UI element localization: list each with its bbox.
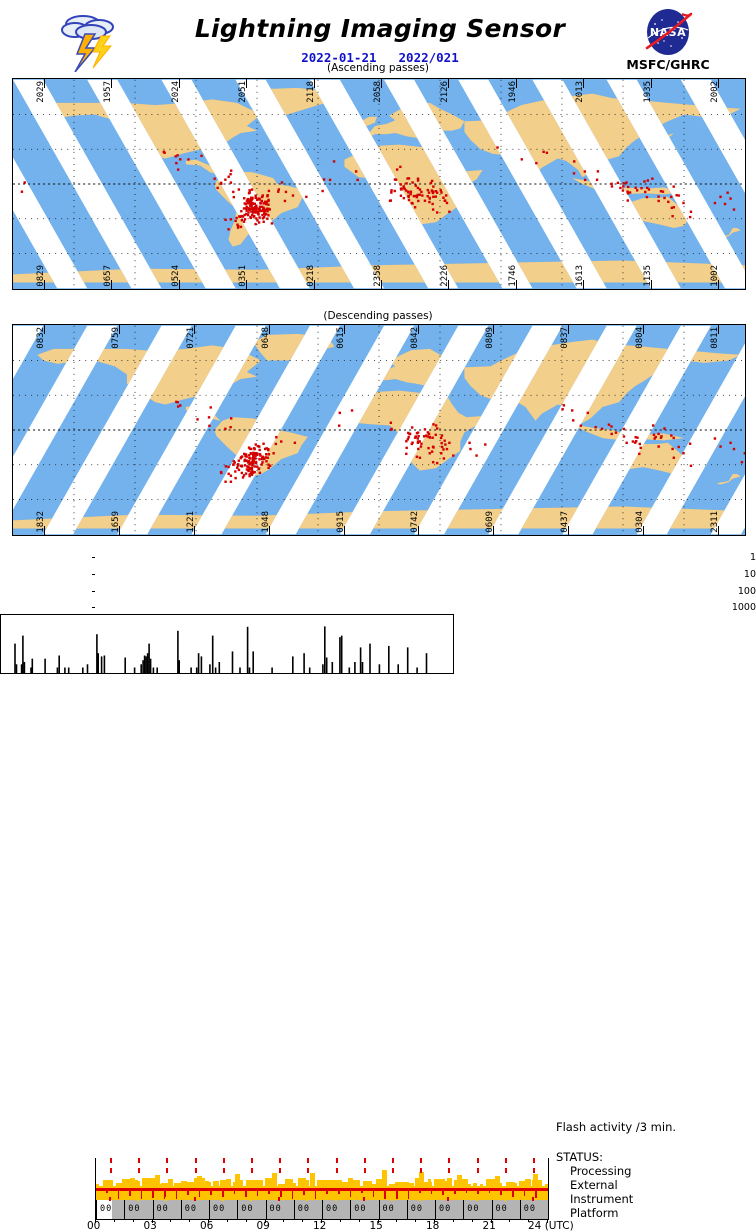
status-instrument-legend: Instrument [570, 1192, 633, 1206]
orbit-tick-mark [314, 79, 315, 88]
external-block [310, 1173, 315, 1186]
orbit-tick-mark [269, 325, 270, 334]
instrument-spike [373, 1190, 375, 1197]
orbit-tick-mark [583, 280, 584, 289]
nasa-meatball-logo: NASA [638, 8, 698, 56]
processing-tick [195, 1158, 197, 1163]
time-axis-minor-tick [283, 1219, 284, 1222]
external-tick [392, 1168, 394, 1173]
time-axis-minor-tick [491, 1219, 492, 1223]
flash-y-tick [92, 557, 95, 558]
instrument-spike [419, 1190, 421, 1193]
flash-y-tick-label: 10 [722, 569, 756, 580]
instrument-spike [477, 1190, 479, 1194]
platform-orbit-count: 00 [298, 1204, 310, 1214]
status-platform-row: 00000000000000000000000000000000 [95, 1200, 549, 1220]
platform-event-tick [222, 1197, 224, 1201]
platform-event-tick [504, 1197, 506, 1201]
platform-event-tick [419, 1197, 421, 1201]
platform-cell-separator [153, 1200, 154, 1219]
platform-event-tick [532, 1197, 534, 1201]
external-tick [195, 1168, 197, 1173]
orbit-tick-mark [568, 325, 569, 334]
platform-cell-separator [350, 1200, 351, 1219]
platform-orbit-count: 00 [213, 1204, 225, 1214]
external-block [272, 1173, 277, 1187]
instrument-spike [431, 1190, 433, 1194]
flash-y-tick [92, 574, 95, 575]
external-block [447, 1178, 452, 1186]
platform-cell-separator [463, 1200, 464, 1219]
orbit-tick-mark [44, 280, 45, 289]
time-axis-label: 06 [200, 1220, 213, 1232]
status-heading: STATUS: [556, 1150, 603, 1164]
instrument-spike [187, 1190, 189, 1195]
platform-cell-separator [124, 1200, 125, 1219]
platform-cell-separator [322, 1200, 323, 1219]
orbit-tick-mark [448, 79, 449, 88]
time-axis-minor-tick [453, 1219, 454, 1222]
instrument-spike [315, 1190, 317, 1199]
time-axis-minor-tick [95, 1219, 96, 1223]
processing-tick [110, 1158, 112, 1163]
orbit-tick-mark [381, 79, 382, 88]
instrument-spike [454, 1190, 456, 1194]
processing-tick [477, 1158, 479, 1163]
platform-event-tick [165, 1197, 167, 1201]
time-axis-minor-tick [509, 1219, 510, 1222]
time-axis-minor-tick [378, 1219, 379, 1223]
platform-event-tick [109, 1197, 111, 1201]
time-axis-label: 00 [87, 1220, 100, 1232]
platform-cell-separator [96, 1200, 97, 1219]
flash-y-tick-label: 100 [722, 586, 756, 597]
processing-tick [420, 1158, 422, 1163]
platform-event-tick [391, 1197, 393, 1201]
orbit-tick-mark [651, 280, 652, 289]
status-instrument-row [95, 1186, 549, 1201]
orbit-tick-mark [119, 526, 120, 535]
platform-orbit-count: 00 [439, 1204, 451, 1214]
instrument-spike [106, 1190, 108, 1193]
processing-tick [448, 1158, 450, 1163]
flash-y-tick [92, 591, 95, 592]
external-block [155, 1175, 160, 1186]
orbit-tick-mark [111, 79, 112, 88]
external-tick [420, 1168, 422, 1173]
platform-orbit-count: 00 [241, 1204, 253, 1214]
processing-tick [307, 1158, 309, 1163]
instrument-spike [292, 1190, 294, 1199]
processing-tick [223, 1158, 225, 1163]
external-block [197, 1176, 202, 1186]
orbit-tick-mark [179, 79, 180, 88]
orbit-tick-mark [516, 79, 517, 88]
orbit-tick-mark [643, 325, 644, 334]
time-axis-minor-tick [189, 1219, 190, 1222]
platform-orbit-count: 00 [524, 1204, 536, 1214]
platform-event-tick [194, 1197, 196, 1201]
external-block [533, 1174, 538, 1186]
platform-orbit-count: 00 [411, 1204, 423, 1214]
platform-event-tick [447, 1197, 449, 1201]
platform-orbit-count: 00 [270, 1204, 282, 1214]
external-block [235, 1174, 240, 1186]
instrument-spike [500, 1190, 502, 1195]
orbit-tick-mark [44, 526, 45, 535]
platform-orbit-count: 00 [128, 1204, 140, 1214]
platform-orbit-count: 00 [383, 1204, 395, 1214]
instrument-spike [280, 1190, 282, 1197]
instrument-spike [350, 1190, 352, 1197]
instrument-spike [396, 1190, 398, 1199]
platform-orbit-count: 00 [467, 1204, 479, 1214]
platform-event-tick [363, 1197, 365, 1201]
instrument-spike [152, 1190, 154, 1198]
flash-y-axis: 1101001000 [0, 548, 35, 614]
processing-tick [505, 1158, 507, 1163]
instrument-spike [303, 1190, 305, 1195]
platform-orbit-count: 00 [185, 1204, 197, 1214]
platform-cell-separator [294, 1200, 295, 1219]
processing-tick [166, 1158, 168, 1163]
time-axis-minor-tick [321, 1219, 322, 1223]
orbit-tick-mark [718, 280, 719, 289]
orbit-tick-mark [493, 526, 494, 535]
instrument-spike [442, 1190, 444, 1195]
descending-passes-label: (Descending passes) [0, 310, 756, 322]
platform-cell-separator [520, 1200, 521, 1219]
platform-event-tick [278, 1197, 280, 1201]
time-axis-label: 03 [144, 1220, 157, 1232]
platform-event-tick [250, 1197, 252, 1201]
external-block [525, 1179, 531, 1186]
orbit-tick-mark [344, 526, 345, 535]
external-block [428, 1179, 431, 1186]
instrument-spike [489, 1190, 491, 1193]
external-tick [505, 1168, 507, 1173]
instrument-spike [408, 1190, 410, 1199]
page-title: Lightning Imaging Sensor [185, 14, 575, 43]
platform-event-tick [306, 1197, 308, 1201]
external-tick [533, 1168, 535, 1173]
instrument-spike [176, 1190, 178, 1199]
instrument-spike [524, 1190, 526, 1196]
instrument-spike [512, 1190, 514, 1197]
orbit-tick-mark [516, 280, 517, 289]
platform-cell-separator [237, 1200, 238, 1219]
external-block [419, 1172, 424, 1186]
external-tick [307, 1168, 309, 1173]
platform-event-tick [137, 1197, 139, 1201]
descending-passes-map: 0832075907210648061508420809083708040811… [12, 324, 746, 536]
processing-tick [279, 1158, 281, 1163]
instrument-spike [199, 1190, 201, 1197]
time-axis-minor-tick [133, 1219, 134, 1222]
status-processing-legend: Processing [570, 1164, 631, 1178]
platform-cell-separator [209, 1200, 210, 1219]
processing-tick [392, 1158, 394, 1163]
external-tick [138, 1168, 140, 1173]
orbit-tick-mark [246, 280, 247, 289]
orbit-tick-mark [643, 526, 644, 535]
platform-event-tick [335, 1197, 337, 1201]
flash-activity-legend: Flash activity /3 min. [556, 1120, 676, 1134]
orbit-tick-mark [718, 325, 719, 334]
instrument-spike [129, 1190, 131, 1196]
orbit-tick-mark [418, 526, 419, 535]
orbit-tick-mark [418, 325, 419, 334]
time-axis-label: 18 [426, 1220, 439, 1232]
orbit-tick-mark [44, 79, 45, 88]
flash-activity-chart [0, 614, 454, 674]
processing-tick [533, 1158, 535, 1163]
external-block [348, 1178, 353, 1186]
external-block [457, 1175, 462, 1186]
orbit-tick-mark [269, 526, 270, 535]
time-axis-minor-tick [396, 1219, 397, 1222]
time-axis-minor-tick [114, 1219, 115, 1222]
external-tick [364, 1168, 366, 1173]
orbit-tick-mark [179, 280, 180, 289]
processing-tick [138, 1158, 140, 1163]
orbit-tick-mark [194, 526, 195, 535]
time-axis-minor-tick [170, 1219, 171, 1222]
time-axis-minor-tick [359, 1219, 360, 1222]
platform-cell-separator [266, 1200, 267, 1219]
orbit-tick-mark [194, 325, 195, 334]
platform-event-tick [476, 1197, 478, 1201]
time-axis-label: 21 [483, 1220, 496, 1232]
external-tick [110, 1168, 112, 1173]
time-axis-unit-label: 24 (UTC) [528, 1220, 574, 1232]
orbit-tick-mark [718, 79, 719, 88]
orbit-tick-mark [381, 280, 382, 289]
orbit-tick-mark [44, 325, 45, 334]
instrument-spike [384, 1190, 386, 1199]
time-axis-minor-tick [434, 1219, 435, 1223]
time-axis-minor-tick [340, 1219, 341, 1222]
status-platform-legend: Platform [570, 1206, 619, 1220]
platform-orbit-count: 00 [157, 1204, 169, 1214]
time-axis-minor-tick [302, 1219, 303, 1222]
orbit-tick-mark [651, 79, 652, 88]
time-axis-minor-tick [208, 1219, 209, 1223]
external-block [495, 1176, 500, 1186]
orbit-tick-mark [448, 280, 449, 289]
instrument-spike [234, 1190, 236, 1194]
external-block [415, 1178, 419, 1186]
instrument-spike [338, 1190, 340, 1194]
platform-cell-separator [435, 1200, 436, 1219]
platform-cell-separator [407, 1200, 408, 1219]
time-axis-label: 09 [257, 1220, 270, 1232]
processing-tick [336, 1158, 338, 1163]
time-axis-label: 12 [313, 1220, 326, 1232]
platform-orbit-count: 00 [326, 1204, 338, 1214]
time-axis-minor-tick [227, 1219, 228, 1222]
instrument-spike [245, 1190, 247, 1197]
external-tick [251, 1168, 253, 1173]
external-tick [448, 1168, 450, 1173]
processing-tick [251, 1158, 253, 1163]
platform-orbit-count: 00 [496, 1204, 508, 1214]
status-external-row [95, 1168, 549, 1187]
orbit-tick-mark [246, 79, 247, 88]
time-axis-minor-tick [265, 1219, 266, 1223]
instrument-spike [210, 1190, 212, 1195]
time-axis-label: 15 [370, 1220, 383, 1232]
platform-cell-separator [492, 1200, 493, 1219]
ascending-passes-map: 2029195720242051211820582126194620131935… [12, 78, 746, 290]
processing-tick [364, 1158, 366, 1163]
time-axis-minor-tick [152, 1219, 153, 1223]
external-block [130, 1178, 135, 1186]
orbit-tick-mark [568, 526, 569, 535]
time-axis-minor-tick [472, 1219, 473, 1222]
platform-cell-separator [181, 1200, 182, 1219]
instrument-spike [268, 1190, 270, 1194]
orbit-tick-mark [111, 280, 112, 289]
instrument-spike [361, 1190, 363, 1193]
external-tick [477, 1168, 479, 1173]
orbit-tick-mark [583, 79, 584, 88]
time-axis-minor-tick [415, 1219, 416, 1222]
activity-panel: 1101001000 00000000000000000000000000000… [0, 548, 756, 680]
flash-y-tick-label: 1 [722, 552, 756, 563]
external-tick [223, 1168, 225, 1173]
external-tick [279, 1168, 281, 1173]
orbit-tick-mark [119, 325, 120, 334]
orbit-tick-mark [314, 280, 315, 289]
instrument-spike [326, 1190, 328, 1194]
external-tick [166, 1168, 168, 1173]
external-block [226, 1179, 231, 1186]
status-external-legend: External [570, 1178, 618, 1192]
ascending-passes-label: (Ascending passes) [0, 62, 756, 74]
orbit-tick-mark [718, 526, 719, 535]
instrument-spike [141, 1190, 143, 1199]
flash-y-tick [92, 607, 95, 608]
orbit-tick-mark [344, 325, 345, 334]
instrument-spike [118, 1190, 120, 1199]
platform-orbit-count: 00 [100, 1204, 112, 1214]
platform-cell-separator [379, 1200, 380, 1219]
external-block [168, 1179, 173, 1187]
external-tick [336, 1168, 338, 1173]
orbit-tick-mark [493, 325, 494, 334]
instrument-spike [257, 1190, 259, 1196]
external-block [382, 1170, 387, 1186]
time-axis-minor-tick [246, 1219, 247, 1222]
instrument-spike [535, 1190, 537, 1198]
flash-y-tick-label: 1000 [722, 602, 756, 613]
instrument-spike [466, 1190, 468, 1193]
platform-orbit-count: 00 [354, 1204, 366, 1214]
